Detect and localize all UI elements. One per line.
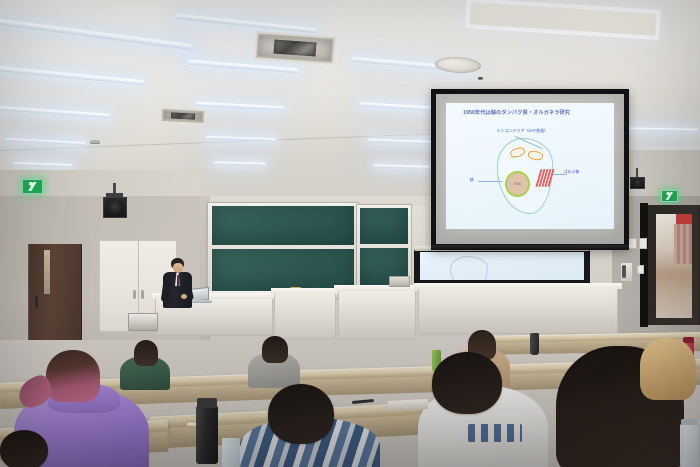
notebook[interactable]: [388, 399, 428, 411]
golgi-icon: [538, 169, 558, 187]
doorway-curtain: [674, 224, 692, 264]
wall-switch-plate[interactable]: [628, 238, 637, 249]
presentation-slide: 1950年代は脳のタンパク質・オルガネラ研究 ミトコンドリア（ATP合成） ゴル…: [446, 103, 613, 229]
thermos-bottle[interactable]: [530, 333, 539, 355]
running-person-icon: [665, 192, 674, 199]
nucleus-leader-line: [478, 181, 501, 182]
secondary-screen-surface: [420, 252, 584, 280]
smoke-detector: [478, 77, 483, 80]
student-blonde-hair: [640, 338, 696, 400]
exit-sign: [22, 179, 43, 194]
chalkboard-panel: [212, 206, 354, 245]
wall-switch-plate[interactable]: [639, 238, 647, 249]
mitochondria-label: ミトコンドリア（ATP合成）: [497, 128, 548, 134]
water-bottle-cap[interactable]: [681, 419, 697, 425]
ceiling-air-vent: [254, 31, 336, 65]
student-hair: [262, 336, 288, 363]
projection-screen-surface: 1950年代は脳のタンパク質・オルガネラ研究 ミトコンドリア（ATP合成） ゴル…: [436, 94, 624, 244]
dna-label: DNA: [514, 182, 521, 186]
ceiling-air-vent: [160, 107, 207, 125]
student-hair-pink-dyed: [46, 350, 100, 402]
sweatshirt-print: [468, 424, 522, 442]
lecture-hall-photo: 1950年代は脳のタンパク質・オルガネラ研究 ミトコンドリア（ATP合成） ゴル…: [0, 0, 700, 467]
projection-screen-bottom-bar: [431, 245, 629, 250]
slide-cell-outline-faint: [450, 256, 488, 280]
golgi-label: ゴルジ体: [563, 169, 586, 174]
exit-sign: [661, 190, 678, 202]
golgi-leader-line: [553, 174, 566, 175]
smoke-detector: [90, 140, 100, 144]
wall-outlet-plate[interactable]: [637, 265, 644, 274]
student-head: [0, 430, 48, 467]
student-head: [268, 384, 334, 444]
front-equipment-box[interactable]: [389, 276, 410, 287]
lecturer-face: [173, 263, 183, 273]
student-hair: [134, 340, 158, 366]
ceiling-speaker: [103, 197, 127, 218]
slide-title: 1950年代は脳のタンパク質・オルガネラ研究: [463, 109, 607, 116]
chalkboard-panel: [360, 208, 408, 244]
running-person-icon: [27, 182, 38, 191]
thermos-bottle[interactable]: [196, 406, 218, 464]
ceiling-speaker: [630, 177, 645, 189]
door-glass-stripe: [44, 250, 50, 294]
thermos-cap[interactable]: [197, 398, 217, 408]
pen[interactable]: [352, 399, 374, 404]
wall-phone[interactable]: [620, 262, 633, 282]
water-bottle[interactable]: [680, 424, 698, 467]
nucleus-label: 核: [470, 177, 474, 183]
chalkboard-panel: [212, 249, 354, 291]
doorway-red-banner: [676, 214, 692, 224]
student-head: [432, 352, 502, 414]
front-counter-top: [414, 283, 622, 289]
water-bottle[interactable]: [222, 438, 240, 467]
